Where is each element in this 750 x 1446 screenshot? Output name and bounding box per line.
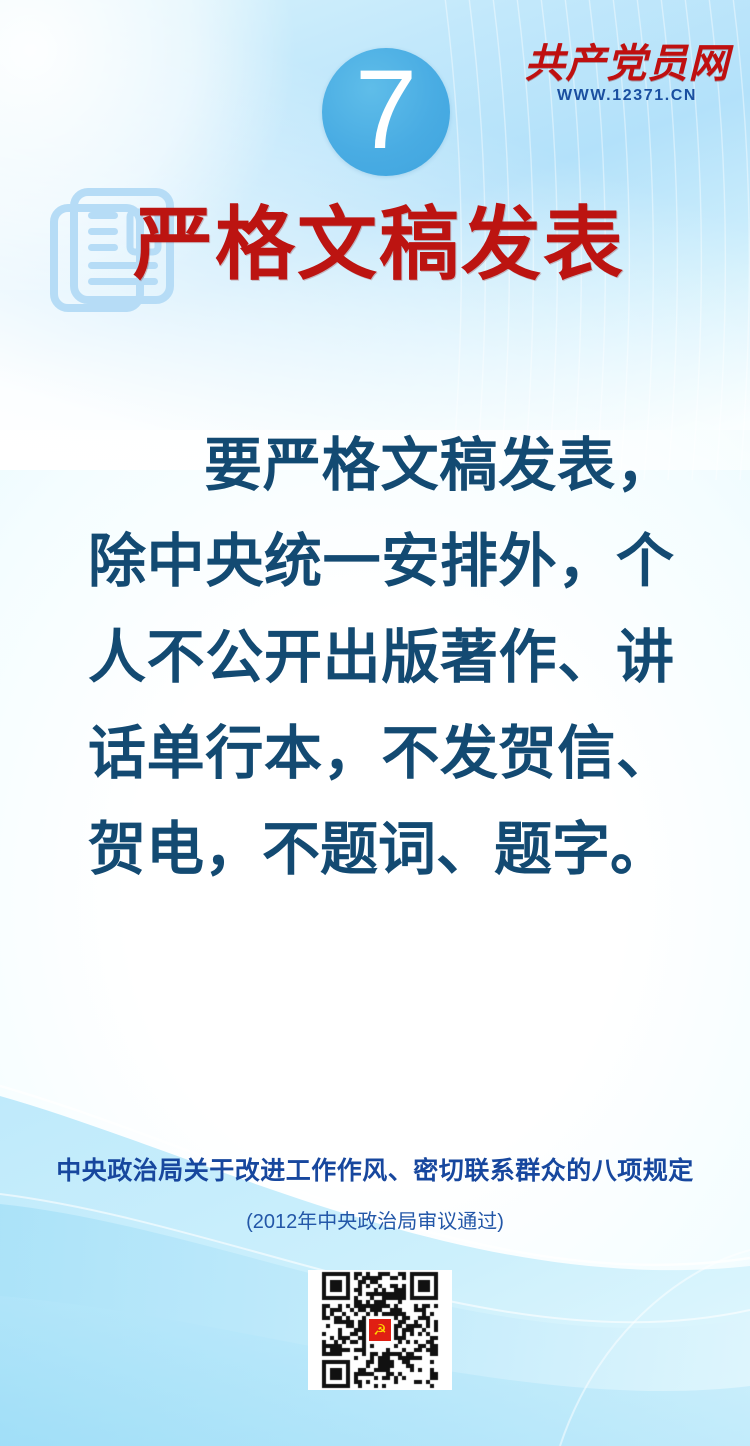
site-logo-name: 共产党员网 bbox=[524, 44, 730, 84]
rule-number: 7 bbox=[322, 48, 450, 172]
party-emblem-icon: ☭ bbox=[369, 1319, 391, 1341]
poster-canvas: 共产党员网 WWW.12371.CN 7 严格文稿发表 要严格文稿发表，除中央统… bbox=[0, 0, 750, 1446]
rule-number-badge: 7 bbox=[322, 48, 450, 176]
footer-regulation-title: 中央政治局关于改进工作作风、密切联系群众的八项规定 bbox=[0, 1156, 750, 1188]
site-logo[interactable]: 共产党员网 WWW.12371.CN bbox=[524, 44, 730, 106]
rule-body-text: 要严格文稿发表，除中央统一安排外，个人不公开出版著作、讲话单行本，不发贺信、贺电… bbox=[88, 418, 674, 898]
hammer-sickle-glyph: ☭ bbox=[373, 1323, 386, 1338]
qr-code[interactable]: ☭ bbox=[308, 1270, 452, 1390]
site-logo-url: WWW.12371.CN bbox=[524, 87, 730, 105]
footer-regulation-subtitle: (2012年中央政治局审议通过) bbox=[0, 1208, 750, 1236]
page-title: 严格文稿发表 bbox=[133, 199, 673, 291]
